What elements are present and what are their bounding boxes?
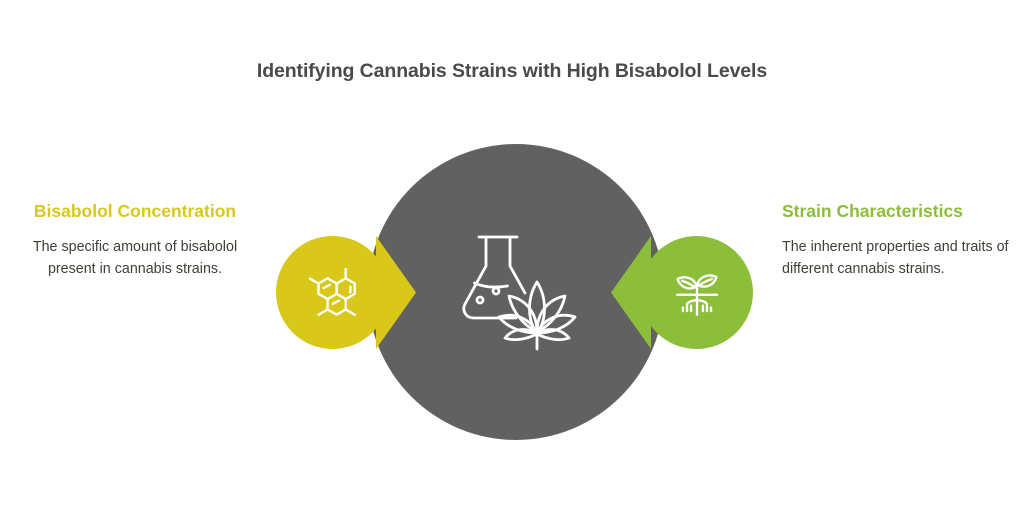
left-concept-heading: Bisabolol Concentration xyxy=(20,200,250,223)
left-badge[interactable] xyxy=(276,236,389,349)
right-badge[interactable] xyxy=(640,236,753,349)
flask-and-cannabis-leaf-icon xyxy=(455,228,577,350)
right-arrow-pointer xyxy=(611,236,651,349)
sprout-with-roots-icon xyxy=(668,264,726,322)
left-concept-text-block: Bisabolol Concentration The specific amo… xyxy=(20,200,250,281)
page-title: Identifying Cannabis Strains with High B… xyxy=(0,60,1024,83)
right-concept-heading: Strain Characteristics xyxy=(782,200,1014,223)
left-concept-description: The specific amount of bisabolol present… xyxy=(20,237,250,280)
right-concept-description: The inherent properties and traits of di… xyxy=(782,237,1014,280)
left-arrow-pointer xyxy=(376,236,416,349)
right-concept-text-block: Strain Characteristics The inherent prop… xyxy=(782,200,1014,281)
molecule-structure-icon xyxy=(304,264,362,322)
infographic-canvas: Identifying Cannabis Strains with High B… xyxy=(0,0,1024,506)
